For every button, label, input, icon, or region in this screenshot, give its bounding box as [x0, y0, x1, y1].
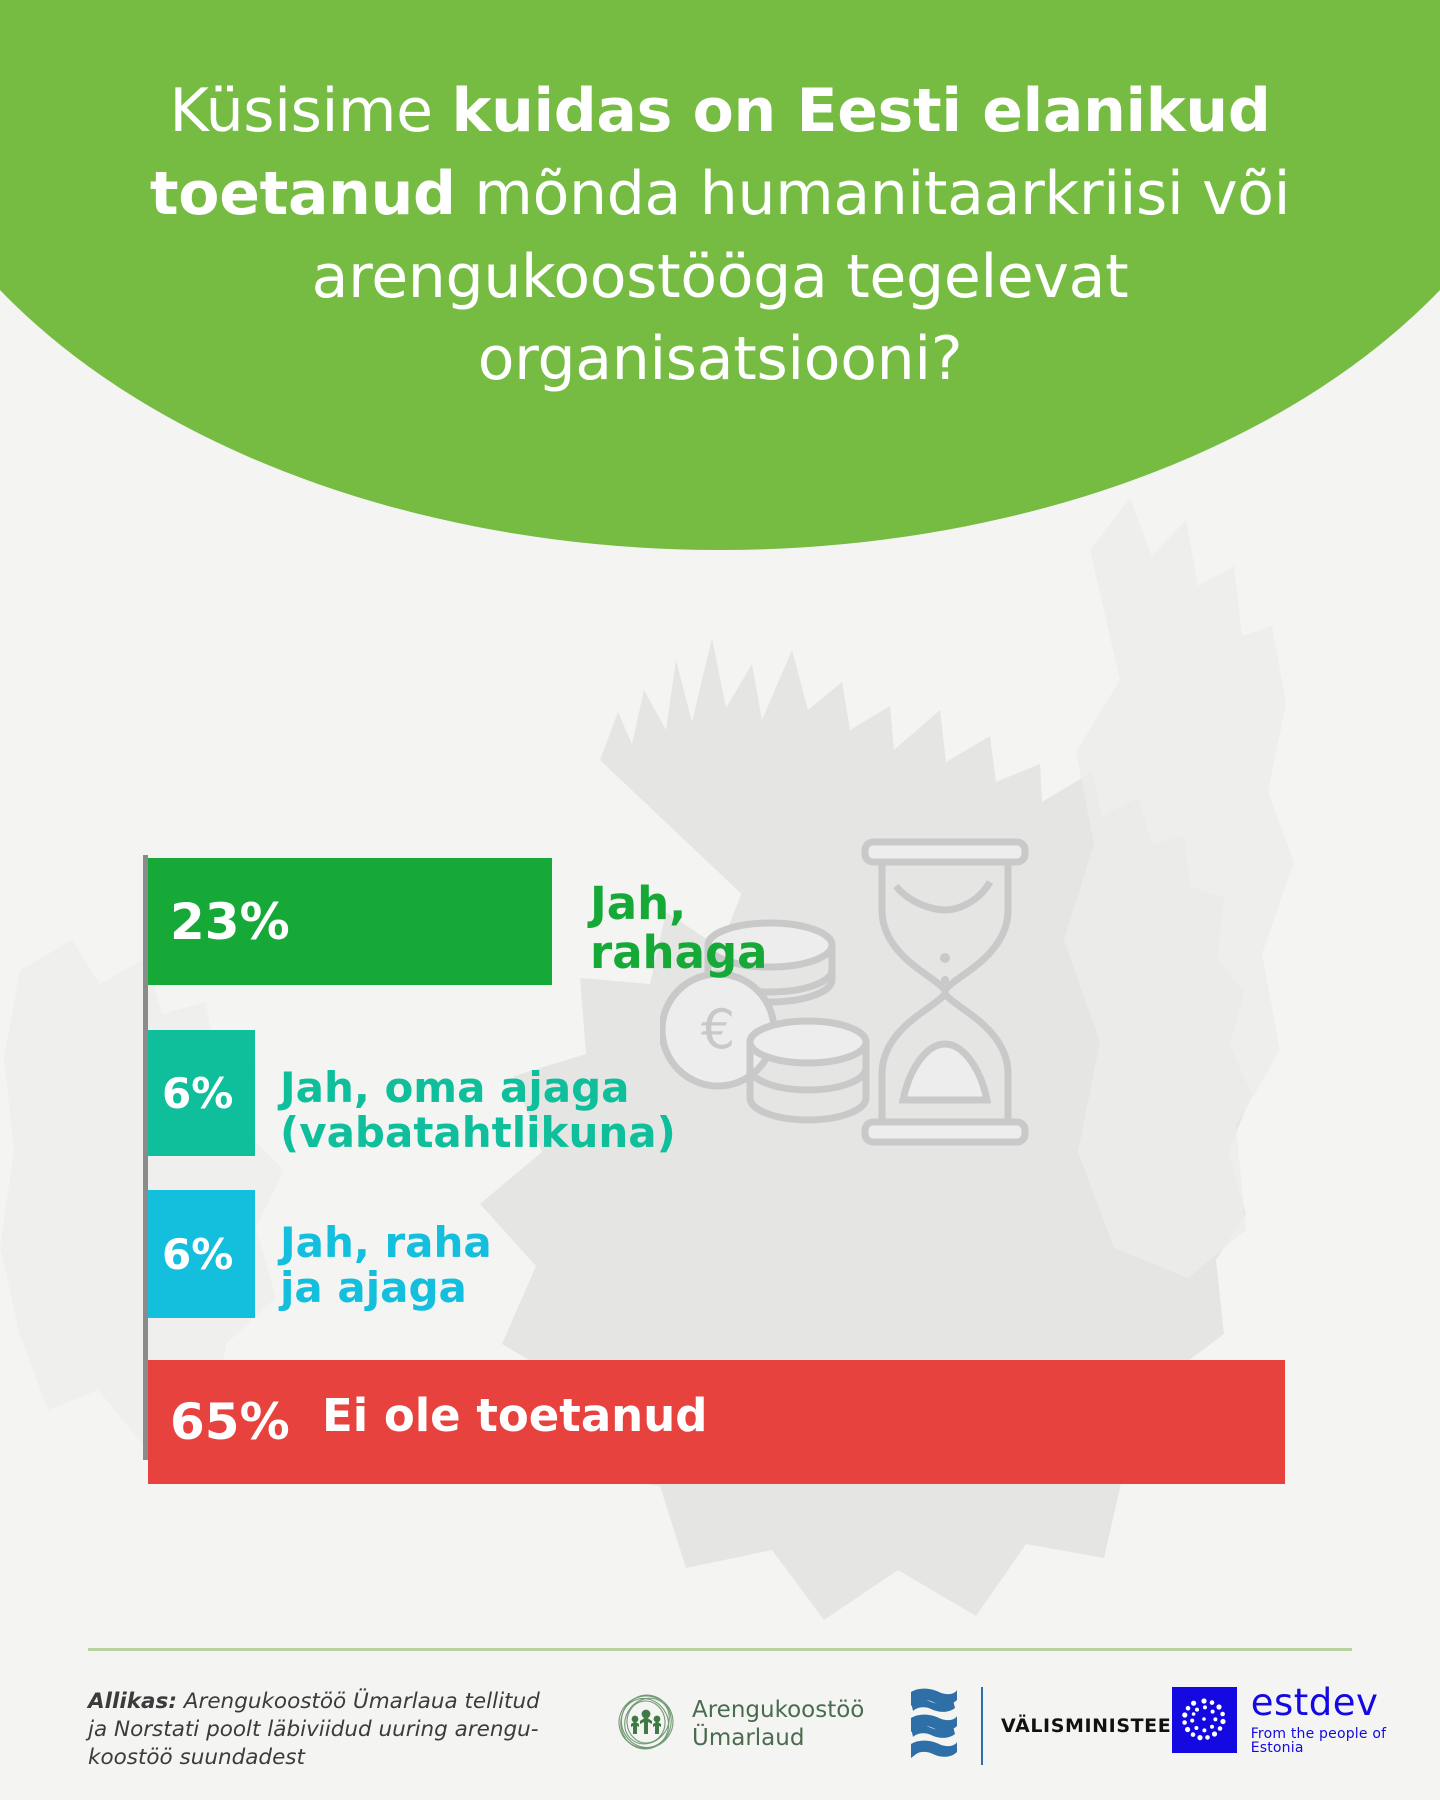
estdev-dots-icon [1172, 1687, 1237, 1753]
footer-divider [88, 1648, 1352, 1651]
infographic-poster: € Küsisime kuidas on Eesti elanikud toet… [0, 0, 1440, 1800]
roundtable-mark-icon [612, 1688, 680, 1761]
source-note: Allikas: Arengukoostöö Ümarlaua tellitud… [88, 1688, 548, 1772]
bar-value-1: 6% [162, 1069, 233, 1118]
logo-estdev: estdev From the people of Estonia [1172, 1684, 1440, 1755]
estdev-name: estdev [1251, 1681, 1379, 1724]
bar-ei-ole-toetanud: 65% [148, 1360, 1285, 1484]
bar-label-2: Jah, raha ja ajaga [280, 1220, 492, 1311]
estdev-tagline: From the people of Estonia [1251, 1727, 1440, 1755]
bar-value-2: 6% [162, 1230, 233, 1279]
bar-value-3: 65% [170, 1393, 290, 1451]
bar-label-0: Jah, rahaga [590, 880, 768, 977]
bar-jah-raha-ja-ajaga: 6% [148, 1190, 255, 1318]
bar-label-3: Ei ole toetanud [322, 1392, 707, 1441]
estdev-wordmark: estdev From the people of Estonia [1251, 1684, 1440, 1755]
bar-label-1: Jah, oma ajaga (vabatahtlikuna) [280, 1065, 676, 1156]
logo-arengukoostoo-umarlaud: Arengukoostöö Ümarlaud [612, 1688, 864, 1761]
estonian-coat-of-arms-icon [905, 1684, 963, 1767]
bar-jah-rahaga: 23% [148, 858, 552, 985]
ministry-logo-divider [981, 1687, 983, 1765]
footer: Allikas: Arengukoostöö Ümarlaua tellitud… [0, 1660, 1440, 1800]
roundtable-name: Arengukoostöö Ümarlaud [692, 1697, 864, 1752]
bar-jah-oma-ajaga: 6% [148, 1030, 255, 1156]
bar-value-0: 23% [170, 893, 290, 951]
bar-chart: 23% Jah, rahaga 6% Jah, oma ajaga (vabat… [0, 0, 1440, 1800]
source-label: Allikas: [88, 1689, 177, 1714]
